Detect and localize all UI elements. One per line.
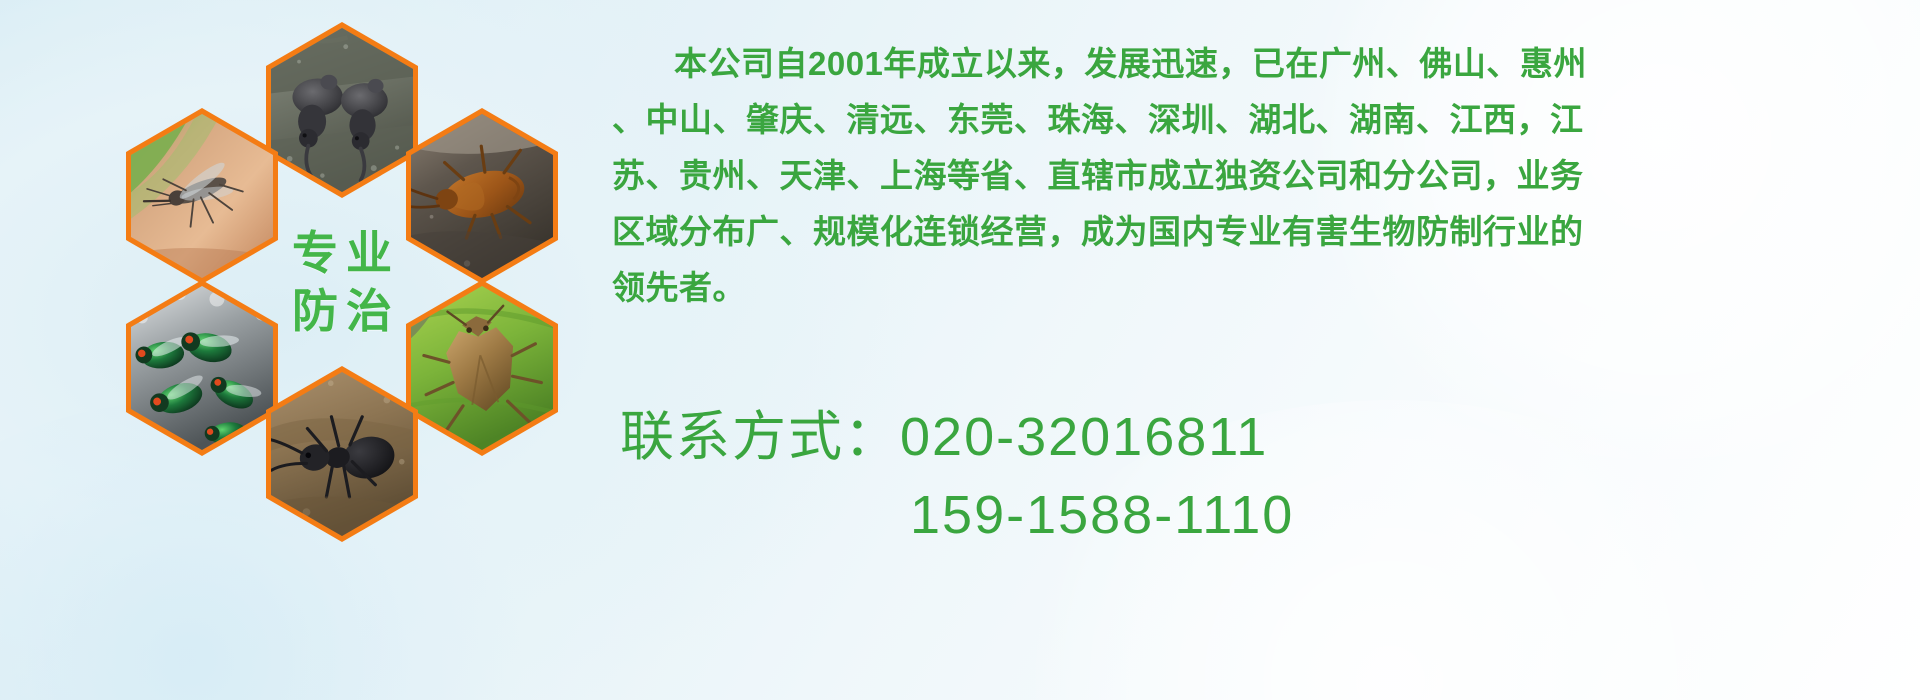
contact-block: 联系方式：020-32016811 159-1588-1110 [620, 398, 1910, 554]
pest-control-banner: 专业 防治 本公司自2001年成立以来，发展迅速，已在广州、佛山、惠州 、中山、… [0, 0, 1920, 700]
about-line-5: 领先者。 [612, 260, 1908, 316]
phone-primary[interactable]: 020-32016811 [900, 407, 1268, 467]
stink-bug-on-leaf-icon [411, 286, 553, 450]
contact-primary-line: 联系方式：020-32016811 [620, 398, 1910, 476]
slogan-center: 专业 防治 [266, 194, 418, 370]
flies-cluster-icon [131, 286, 273, 450]
about-line-3: 苏、贵州、天津、上海等省、直辖市成立独资公司和分公司，业务 [612, 148, 1908, 204]
hex-tile-ant-photo [271, 372, 413, 536]
about-line-1: 本公司自2001年成立以来，发展迅速，已在广州、佛山、惠州 [612, 36, 1908, 92]
hex-tile-cockroach-photo [411, 114, 553, 278]
hex-tile-mosquito[interactable] [126, 108, 278, 284]
about-line-4: 区域分布广、规模化连锁经营，成为国内专业有害生物防制行业的 [612, 204, 1908, 260]
slogan-line-1: 专业 [284, 229, 400, 277]
slogan-line-2: 防治 [284, 287, 400, 335]
phone-secondary[interactable]: 159-1588-1110 [620, 476, 1910, 554]
ant-on-soil-icon [271, 372, 413, 536]
hex-tile-stink-bug[interactable] [406, 280, 558, 456]
hex-tile-mosquito-photo [131, 114, 273, 278]
cockroach-on-ground-icon [411, 114, 553, 278]
rats-on-concrete-icon [271, 28, 413, 192]
hex-photo-cluster: 专业 防治 [92, 18, 592, 563]
about-line-2: 、中山、肇庆、清远、东莞、珠海、深圳、湖北、湖南、江西，江 [612, 92, 1908, 148]
hex-tile-ant[interactable] [266, 366, 418, 542]
hex-tile-flies-photo [131, 286, 273, 450]
hex-tile-rats-photo [271, 28, 413, 192]
hex-tile-rats[interactable] [266, 22, 418, 198]
about-paragraph: 本公司自2001年成立以来，发展迅速，已在广州、佛山、惠州 、中山、肇庆、清远、… [612, 36, 1908, 316]
mosquito-on-skin-icon [131, 114, 273, 278]
hex-tile-stink-bug-photo [411, 286, 553, 450]
hex-tile-flies[interactable] [126, 280, 278, 456]
contact-label: 联系方式： [620, 407, 900, 467]
hex-tile-cockroach[interactable] [406, 108, 558, 284]
